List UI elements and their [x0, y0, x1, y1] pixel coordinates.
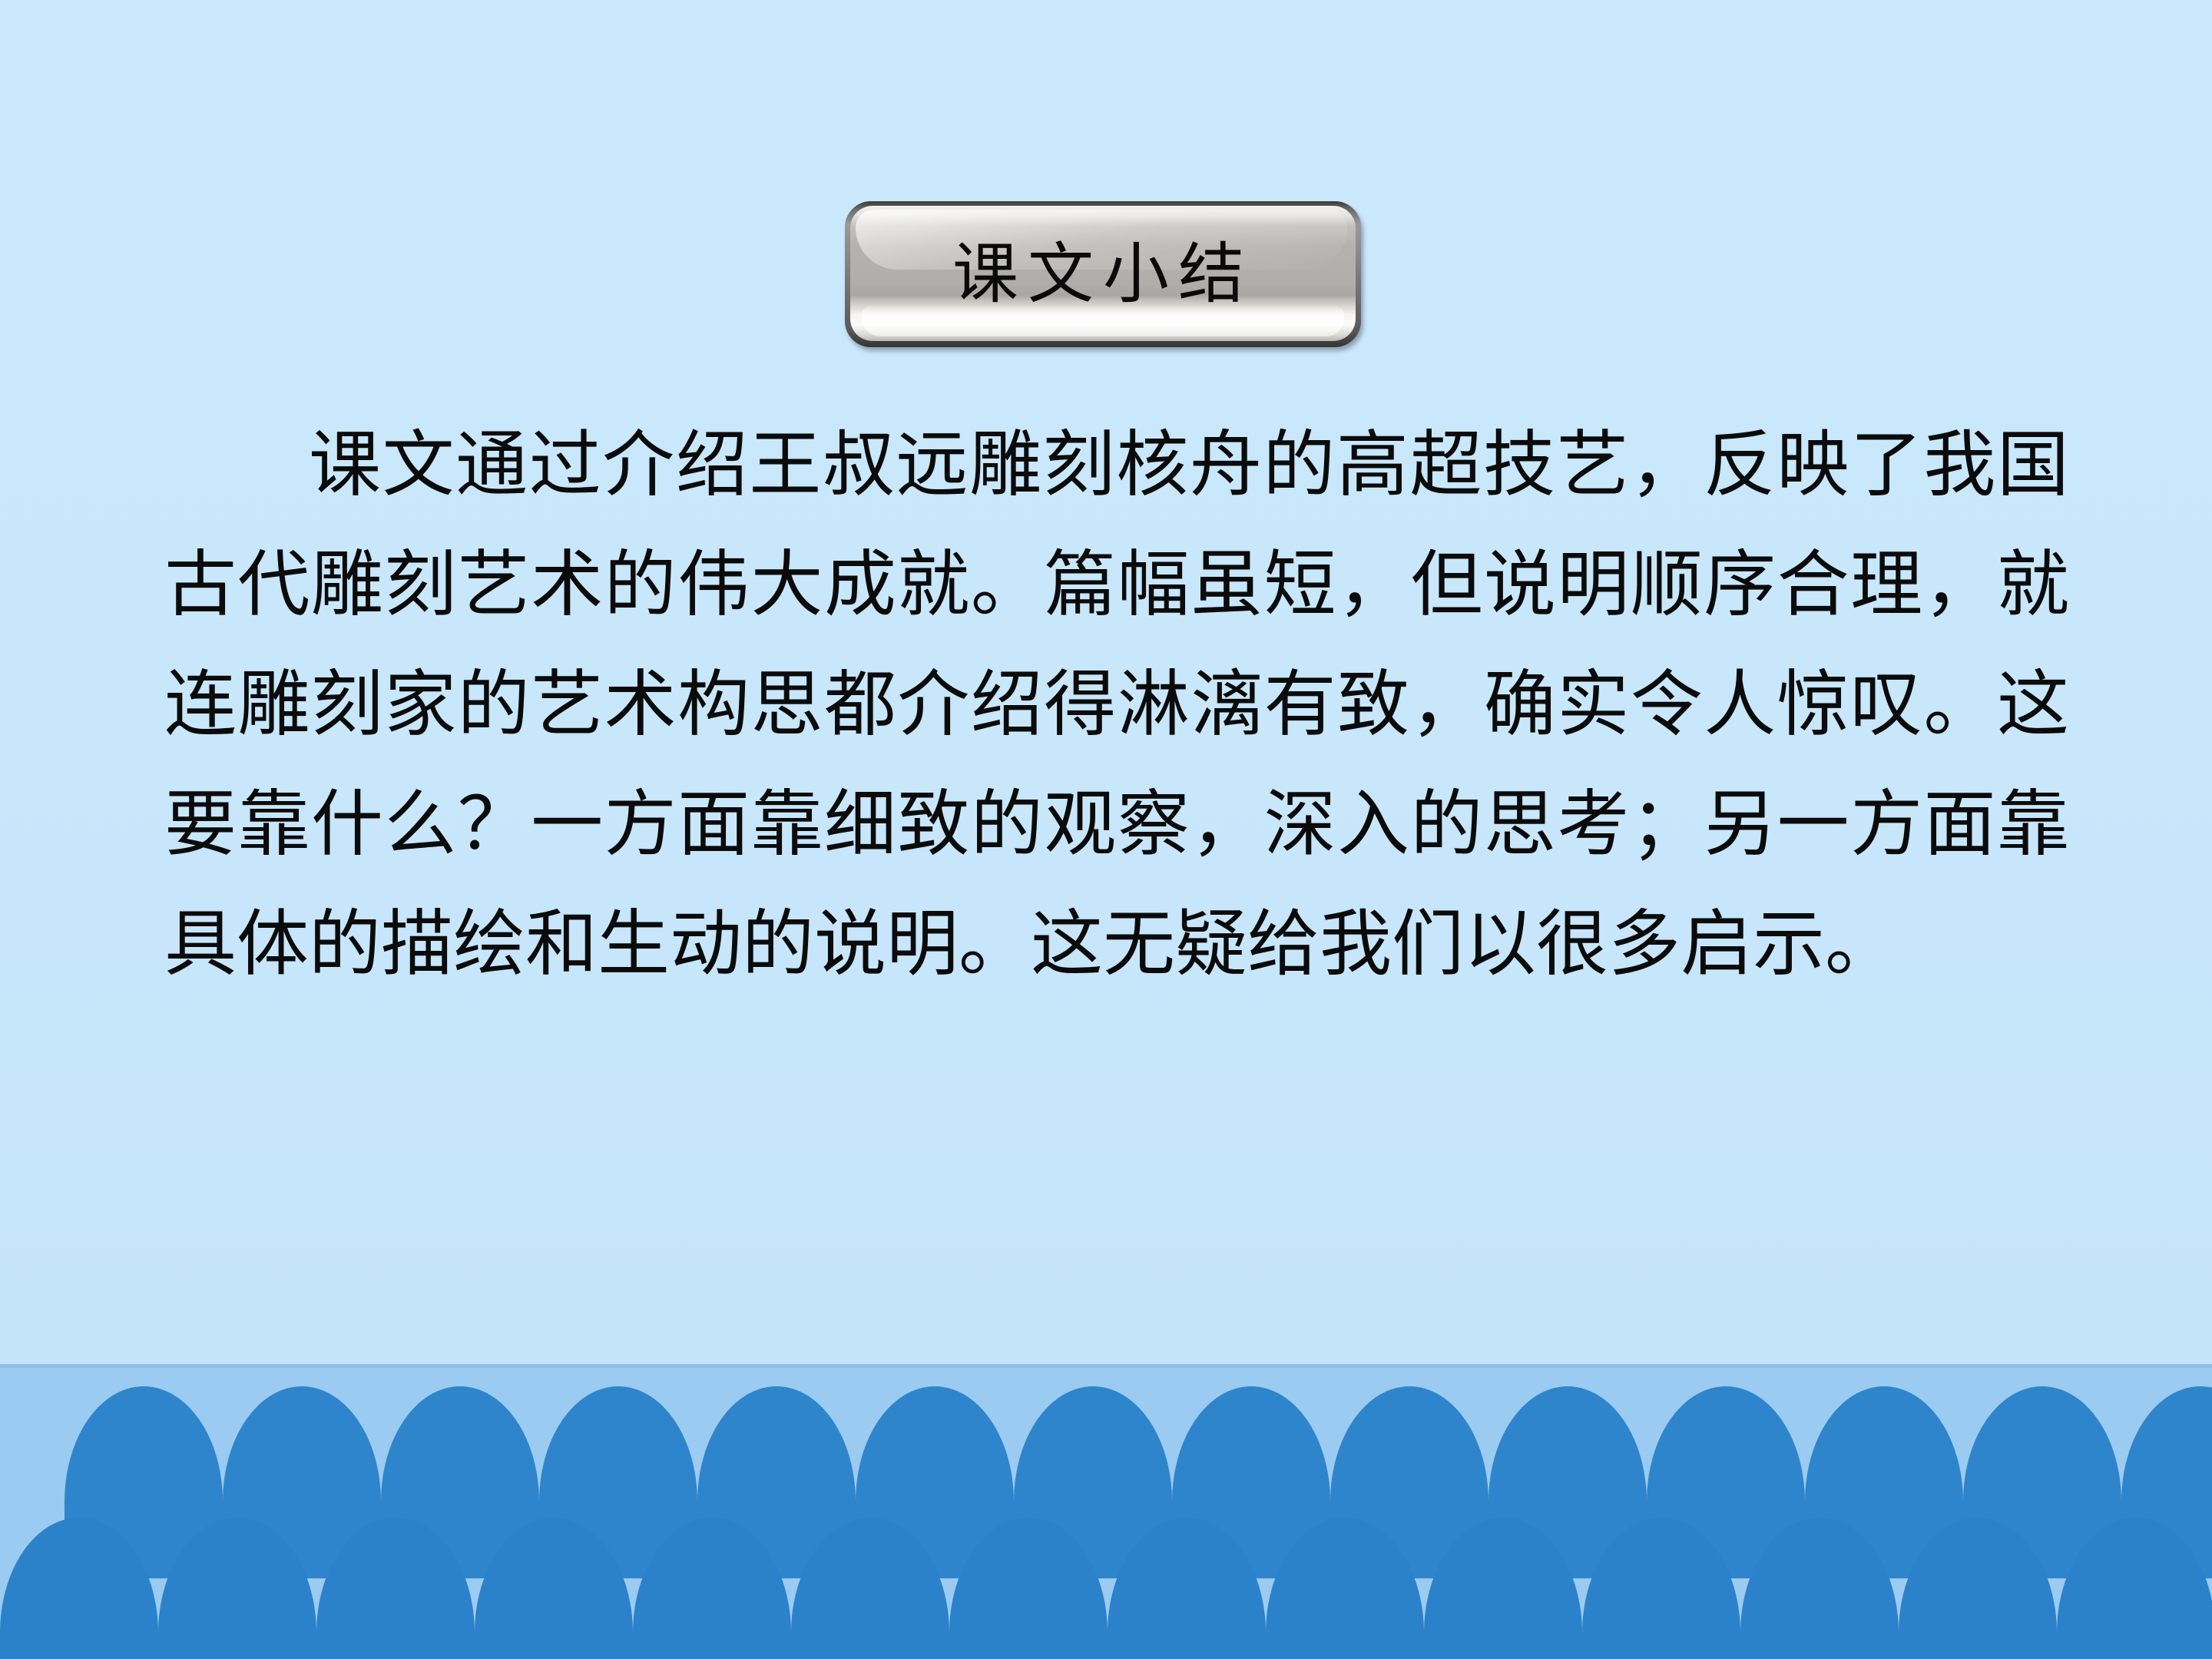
arch-shape [158, 1518, 316, 1659]
arch-shape [1899, 1518, 2057, 1659]
arch-shape [1582, 1518, 1740, 1659]
arch-row-front [0, 1518, 2212, 1659]
title-plaque-button[interactable]: 课文小结 [845, 201, 1361, 347]
plaque-outer-bevel: 课文小结 [845, 201, 1361, 347]
arch-shape [2057, 1518, 2212, 1659]
footer-decoration [0, 1364, 2212, 1659]
arch-shape [633, 1518, 791, 1659]
arch-shape [0, 1518, 158, 1659]
arch-shape [1266, 1518, 1424, 1659]
arch-shape [1740, 1518, 1899, 1659]
summary-paragraph: 课文通过介绍王叔远雕刻核舟的高超技艺，反映了我国古代雕刻艺术的伟大成就。篇幅虽短… [164, 406, 2069, 1005]
arch-shape [791, 1518, 949, 1659]
slide-canvas: 课文小结 课文通过介绍王叔远雕刻核舟的高超技艺，反映了我国古代雕刻艺术的伟大成就… [0, 0, 2212, 1659]
arch-shape [1424, 1518, 1582, 1659]
page-title: 课文小结 [845, 241, 1361, 307]
arch-shape [949, 1518, 1108, 1659]
arch-shape [475, 1518, 633, 1659]
arch-shape [316, 1518, 475, 1659]
arch-shape [1108, 1518, 1266, 1659]
footer-divider-line [0, 1364, 2212, 1368]
